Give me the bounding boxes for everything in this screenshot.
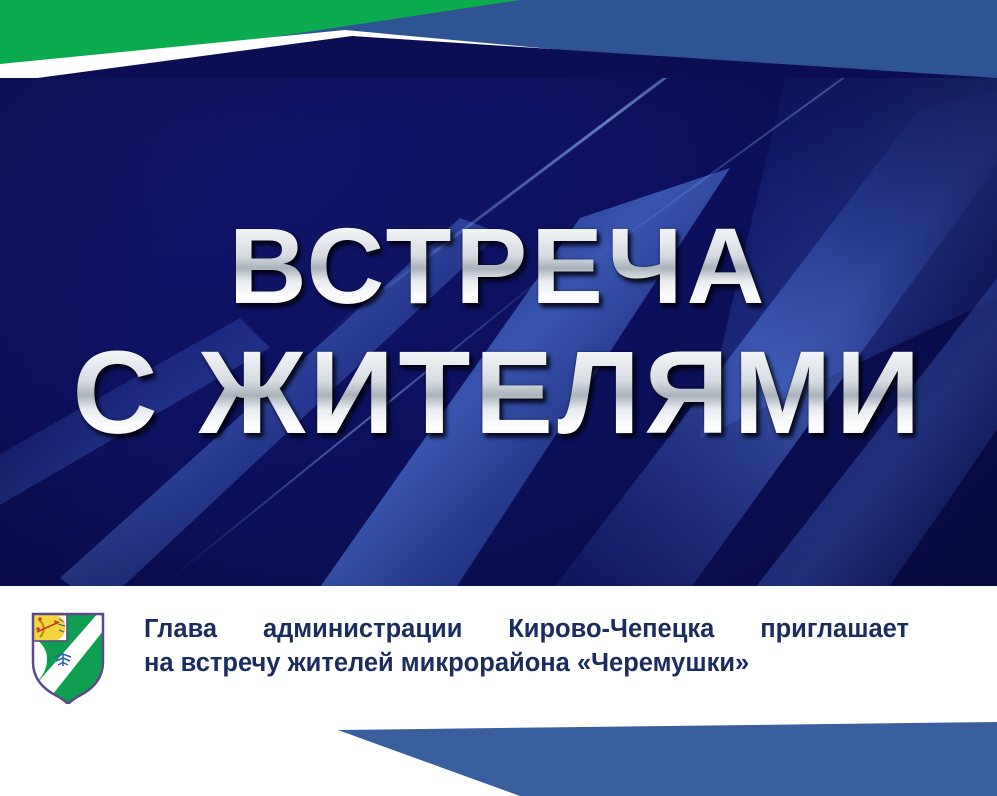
caption-text: Глава администрации Кирово-Чепецка пригл… [144, 613, 909, 681]
caption-line-2: на встречу жителей микрорайона «Черемушк… [144, 647, 909, 681]
bottom-blue-triangle-shape [338, 722, 997, 796]
hero-title-line-1: ВСТРЕЧА [229, 212, 769, 320]
hero-title-block: ВСТРЕЧА С ЖИТЕЛЯМИ [0, 78, 997, 586]
top-decorative-band [0, 0, 997, 90]
caption-line-1: Глава администрации Кирово-Чепецка пригл… [144, 613, 909, 647]
coat-of-arms-icon [29, 610, 107, 704]
hero-banner: ВСТРЕЧА С ЖИТЕЛЯМИ [0, 78, 997, 586]
coat-of-arms-shapes [29, 610, 107, 704]
caption-row: Глава администрации Кирово-Чепецка пригл… [0, 586, 997, 716]
hero-title-line-2: С ЖИТЕЛЯМИ [72, 334, 924, 452]
caption-area: Глава администрации Кирово-Чепецка пригл… [0, 586, 997, 796]
top-deco-shapes [0, 0, 997, 90]
